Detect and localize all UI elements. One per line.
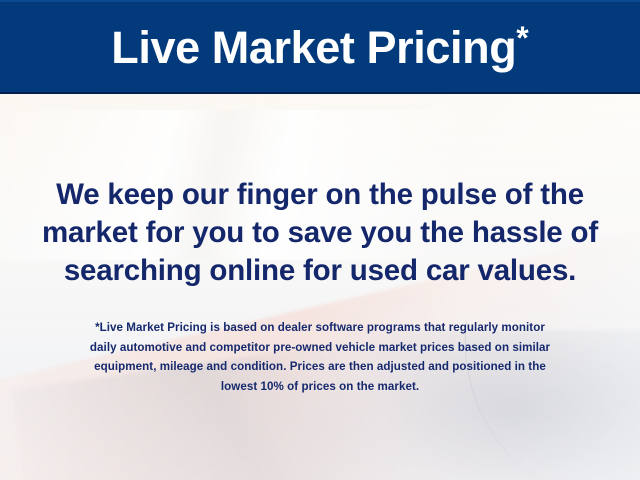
live-market-pricing-banner: Live Market Pricing* We keep our finger … xyxy=(0,0,640,480)
banner-title-text: Live Market Pricing xyxy=(111,22,516,73)
disclaimer-line-2: daily automotive and competitor pre-owne… xyxy=(28,338,612,358)
headline-line-2: market for you to save you the hassle of xyxy=(0,214,640,252)
title-bar: Live Market Pricing* xyxy=(0,0,640,94)
title-bar-bottom-rule xyxy=(0,92,640,94)
headline: We keep our finger on the pulse of the m… xyxy=(0,176,640,290)
headline-line-3: searching online for used car values. xyxy=(0,252,640,290)
disclaimer-line-4: lowest 10% of prices on the market. xyxy=(28,377,612,397)
disclaimer-line-1: *Live Market Pricing is based on dealer … xyxy=(28,318,612,338)
banner-title: Live Market Pricing* xyxy=(111,22,529,73)
disclaimer: *Live Market Pricing is based on dealer … xyxy=(28,318,612,396)
disclaimer-line-3: equipment, mileage and condition. Prices… xyxy=(28,357,612,377)
title-bar-top-rule xyxy=(0,0,640,2)
headline-line-1: We keep our finger on the pulse of the xyxy=(0,176,640,214)
banner-title-asterisk: * xyxy=(516,20,528,56)
